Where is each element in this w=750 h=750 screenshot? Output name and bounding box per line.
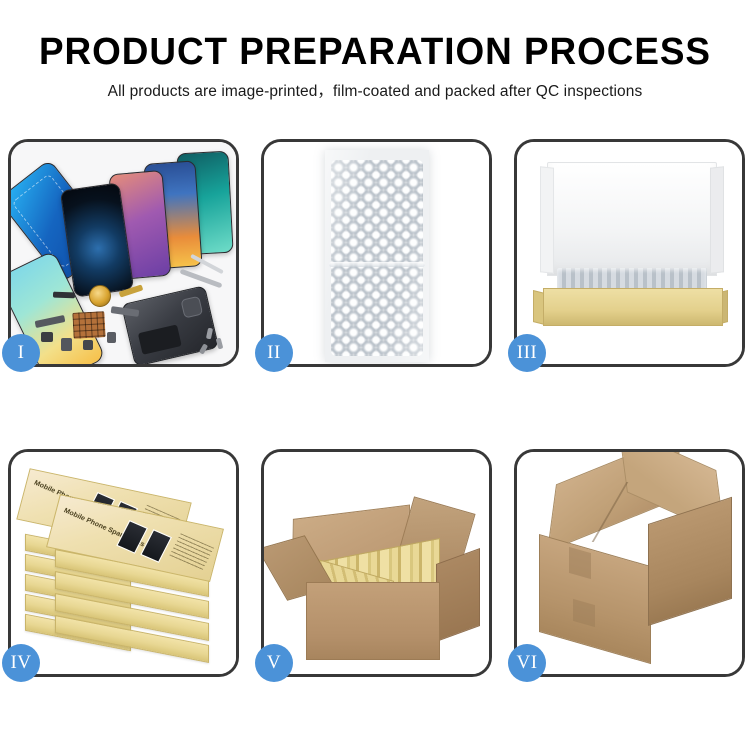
step-badge-3: III <box>508 334 546 372</box>
step-panel-3[interactable]: III <box>514 139 745 367</box>
step-badge-5: V <box>255 644 293 682</box>
small-component-icon <box>41 332 53 342</box>
process-steps-row-1: I II <box>8 139 745 367</box>
page-header: PRODUCT PREPARATION PROCESS All products… <box>0 0 750 103</box>
sealed-carton-illustration <box>517 452 742 674</box>
step-image-5 <box>264 452 489 674</box>
process-steps-row-2: Mobile Phone Spare Parts Mobile Phone Sp… <box>8 449 745 677</box>
step-panel-4[interactable]: Mobile Phone Spare Parts Mobile Phone Sp… <box>8 449 239 677</box>
step-image-4: Mobile Phone Spare Parts Mobile Phone Sp… <box>11 452 236 674</box>
box-spec-lines <box>169 533 214 571</box>
bubble-wrap-illustration <box>264 142 489 364</box>
phone-parts-illustration <box>11 142 236 364</box>
small-component-icon <box>61 338 72 351</box>
carton-side-face <box>648 497 732 626</box>
box-screen-image <box>140 529 172 563</box>
battery-icon <box>138 324 182 354</box>
step-badge-4: IV <box>2 644 40 682</box>
carton-front-face <box>306 582 440 660</box>
step-panel-1[interactable]: I <box>8 139 239 367</box>
inner-box-illustration <box>517 142 742 364</box>
screw-icon <box>216 338 224 350</box>
small-component-icon <box>83 340 93 350</box>
plastic-sheen <box>325 150 429 362</box>
step-panel-5[interactable]: V <box>261 449 492 677</box>
step-image-1 <box>11 142 236 364</box>
box-lid-icon <box>547 162 717 276</box>
copper-coil-icon <box>89 285 111 307</box>
step-badge-1: I <box>2 334 40 372</box>
box-front-face <box>543 288 723 326</box>
chip-grid-icon <box>72 311 105 339</box>
retail-box-stack-illustration: Mobile Phone Spare Parts Mobile Phone Sp… <box>11 452 236 674</box>
step-image-6 <box>517 452 742 674</box>
step-panel-2[interactable]: II <box>261 139 492 367</box>
step-panel-6[interactable]: VI <box>514 449 745 677</box>
carton-front-face <box>539 534 651 664</box>
bubble-wrap-pouch-icon <box>325 150 429 362</box>
carton-side-face <box>436 548 480 642</box>
page-title: PRODUCT PREPARATION PROCESS <box>11 30 739 74</box>
step-image-2 <box>264 142 489 364</box>
small-component-icon <box>107 332 116 343</box>
step-badge-6: VI <box>508 644 546 682</box>
process-steps-grid: I II <box>8 139 745 677</box>
page-subtitle: All products are image-printed，film-coat… <box>0 81 750 103</box>
camera-module-icon <box>180 296 203 319</box>
speaker-strip-icon <box>53 292 75 299</box>
carton-loading-illustration <box>264 452 489 674</box>
step-badge-2: II <box>255 334 293 372</box>
step-image-3 <box>517 142 742 364</box>
